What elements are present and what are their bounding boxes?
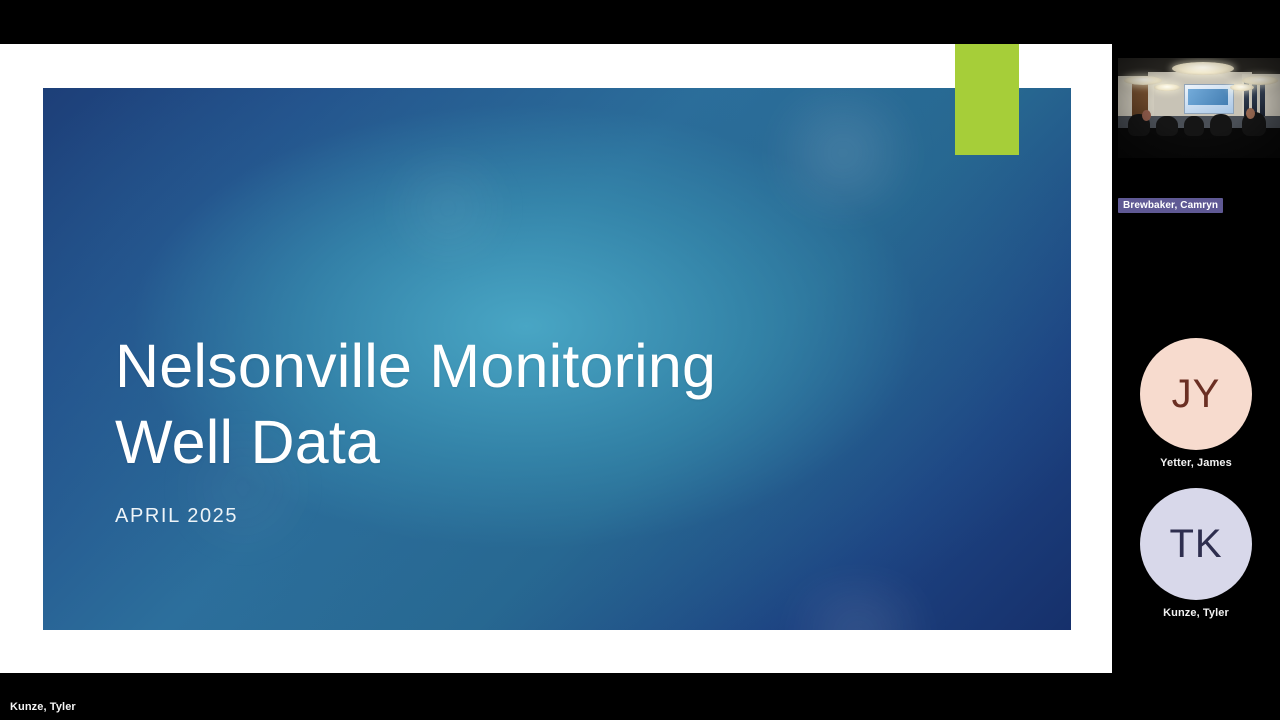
active-speaker-name: Kunze, Tyler xyxy=(10,701,76,713)
bokeh-highlight-icon xyxy=(753,88,933,218)
video-vignette xyxy=(1118,58,1280,158)
video-conference-screen: Nelsonville Monitoring Well Data APRIL 2… xyxy=(0,0,1280,720)
slide-title: Nelsonville Monitoring Well Data xyxy=(115,328,895,481)
video-participant-name-chip: Brewbaker, Camryn xyxy=(1118,198,1223,213)
presentation-slide[interactable]: Nelsonville Monitoring Well Data APRIL 2… xyxy=(43,88,1071,630)
participant-filmstrip: Brewbaker, Camryn JY Yetter, James TK Ku… xyxy=(1112,0,1280,720)
avatar: JY xyxy=(1140,338,1252,450)
slide-subtitle: APRIL 2025 xyxy=(115,505,895,528)
participant-name: Kunze, Tyler xyxy=(1112,607,1280,619)
bokeh-highlight-icon xyxy=(373,148,523,268)
shared-content-stage[interactable]: Nelsonville Monitoring Well Data APRIL 2… xyxy=(0,0,1112,720)
bokeh-highlight-icon xyxy=(763,578,953,630)
conference-room-scene xyxy=(1118,58,1280,158)
avatar: TK xyxy=(1140,488,1252,600)
participant-name: Yetter, James xyxy=(1112,457,1280,469)
slide-text-block: Nelsonville Monitoring Well Data APRIL 2… xyxy=(115,328,895,528)
participant-video-tile[interactable] xyxy=(1118,58,1280,158)
participant-tile-kunze[interactable]: TK Kunze, Tyler xyxy=(1112,488,1280,619)
slide-accent-block xyxy=(955,44,1019,155)
participant-tile-yetter[interactable]: JY Yetter, James xyxy=(1112,338,1280,469)
